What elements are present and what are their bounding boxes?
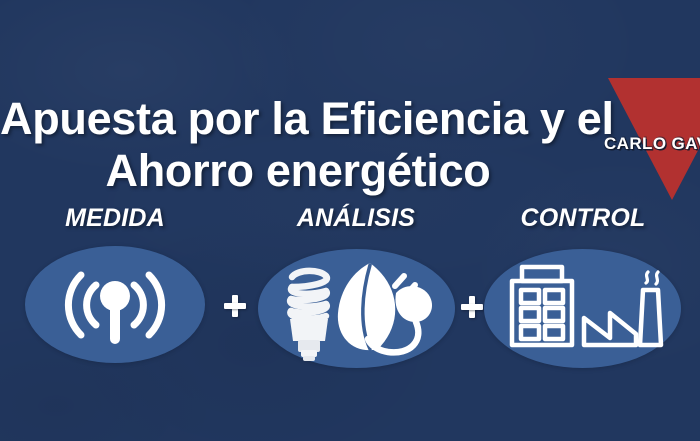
pillar-label-control: CONTROL [485, 204, 681, 233]
logo-brand-text: CARLO GAV [604, 134, 700, 154]
pillar-medida [25, 246, 205, 363]
operator-plus-2 [461, 296, 483, 318]
operator-plus-1 [224, 295, 246, 317]
pillar-control [484, 249, 681, 368]
wireless-signal-antenna-icon [25, 246, 205, 363]
carlo-gavazzi-logo[interactable]: CARLO GAV [608, 70, 700, 205]
headline-line-2: Ahorro energético [0, 145, 596, 197]
pillar-label-medida: MEDIDA [25, 204, 205, 233]
building-factory-icon [484, 249, 681, 368]
headline-line-1: Apuesta por la Eficiencia y el [0, 93, 596, 145]
page-title: Apuesta por la Eficiencia y el Ahorro en… [0, 93, 596, 197]
cfl-bulb-part [290, 271, 328, 361]
pillar-labels: MEDIDA ANÁLISIS CONTROL [0, 204, 700, 234]
efficiency-banner: CARLO GAV Apuesta por la Eficiencia y el… [0, 0, 700, 441]
pillar-label-analisis: ANÁLISIS [258, 204, 454, 233]
pillar-analisis [258, 249, 455, 368]
cfl-bulb-leaf-plug-icon [258, 249, 455, 368]
